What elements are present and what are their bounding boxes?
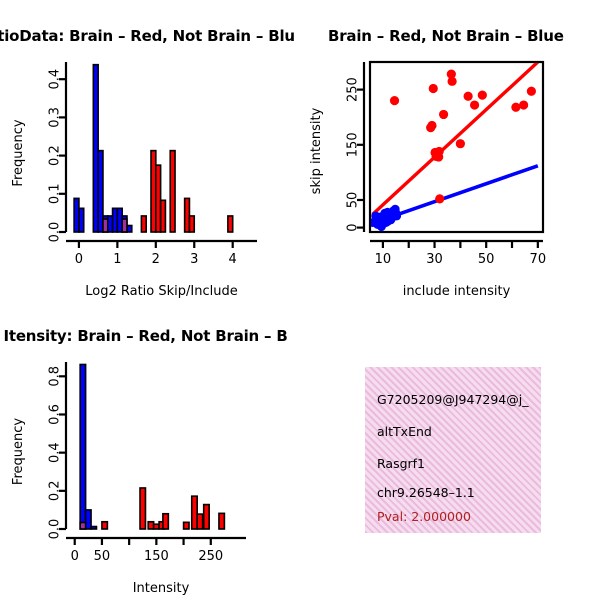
histogram-bar: [189, 216, 194, 232]
histogram-bar: [161, 200, 166, 232]
y-tick-label: 0.0: [48, 222, 63, 243]
y-tick-label: 0.4: [48, 69, 63, 90]
histogram-bar: [170, 151, 175, 232]
histogram-bar: [219, 513, 224, 529]
scatter-point-brain: [511, 103, 520, 112]
histogram-bar: [102, 522, 107, 529]
top-right-plot: 05015025010305070include intensityskip i…: [300, 0, 600, 310]
scatter-point-brain: [439, 110, 448, 119]
y-tick-label: 0.4: [48, 442, 63, 463]
info-line-id: G7205209@J947294@j_: [377, 392, 528, 407]
panel-intensity-histogram: ne Itensity: Brain – Red, Not Brain – B …: [0, 300, 300, 600]
y-tick-label: 0.1: [48, 183, 63, 204]
histogram-bar: [228, 216, 233, 232]
histogram-bar: [140, 488, 145, 529]
histogram-bar: [86, 510, 91, 529]
scatter-point-brain: [390, 96, 399, 105]
histogram-bar: [103, 219, 108, 232]
blue-regression-line: [373, 166, 538, 223]
scatter-point-brain: [519, 100, 528, 109]
histogram-bar: [80, 364, 85, 529]
histogram-bar: [192, 496, 197, 529]
scatter-point-brain: [435, 194, 444, 203]
scatter-point-brain: [470, 100, 479, 109]
y-axis-title: Frequency: [11, 119, 26, 186]
histogram-bar: [91, 527, 96, 529]
top-left-plot: 0.00.10.20.30.401234Log2 Ratio Skip/Incl…: [0, 0, 300, 310]
bottom-left-plot: 0.00.20.40.60.8050150250IntensityFrequen…: [0, 300, 300, 600]
info-line-eventtype: altTxEnd: [377, 424, 432, 439]
bottom-left-title: ne Itensity: Brain – Red, Not Brain – B: [0, 327, 288, 345]
scatter-point-brain: [426, 123, 435, 132]
x-axis-title: Intensity: [133, 581, 190, 596]
y-tick-label: 250: [346, 77, 361, 102]
scatter-point-brain: [429, 84, 438, 93]
scatter-point-brain: [456, 139, 465, 148]
histogram-bar: [79, 208, 84, 232]
info-line-gene: Rasgrf1: [377, 456, 425, 471]
panel-log2-ratio-histogram: RatioData: Brain – Red, Not Brain – Blu …: [0, 0, 300, 310]
red-regression-line: [373, 62, 538, 214]
scatter-point-brain: [527, 87, 536, 96]
x-tick-label: 70: [530, 252, 547, 267]
x-tick-label: 3: [190, 252, 198, 267]
y-tick-label: 0.0: [48, 519, 63, 540]
event-info-box: G7205209@J947294@j_ altTxEnd Rasgrf1 chr…: [365, 367, 541, 533]
x-tick-label: 1: [113, 252, 121, 267]
x-axis-title: include intensity: [403, 284, 511, 299]
x-tick-label: 4: [229, 252, 237, 267]
scatter-point-brain: [435, 147, 444, 156]
x-tick-label: 0: [75, 252, 83, 267]
x-tick-label: 2: [152, 252, 160, 267]
top-right-title: Brain – Red, Not Brain – Blue: [328, 27, 564, 45]
histogram-bar: [184, 522, 189, 529]
y-axis-title: Frequency: [11, 418, 26, 485]
scatter-point-brain: [464, 92, 473, 101]
figure-canvas: RatioData: Brain – Red, Not Brain – Blu …: [0, 0, 600, 600]
histogram-bar: [148, 522, 153, 529]
y-tick-label: 0.2: [48, 480, 63, 501]
x-tick-label: 50: [94, 549, 111, 564]
y-axis-title: skip intensity: [309, 107, 324, 194]
histogram-bar: [122, 219, 127, 232]
x-tick-label: 150: [144, 549, 169, 564]
panel-intensity-scatter: Brain – Red, Not Brain – Blue 0501502501…: [300, 0, 600, 310]
top-left-title: RatioData: Brain – Red, Not Brain – Blu: [0, 27, 295, 45]
y-tick-label: 50: [346, 192, 361, 209]
x-tick-label: 30: [426, 252, 443, 267]
x-tick-label: 10: [375, 252, 392, 267]
y-tick-label: 0: [346, 223, 361, 231]
histogram-bar: [80, 523, 85, 529]
scatter-point-brain: [478, 91, 487, 100]
x-axis-title: Log2 Ratio Skip/Include: [85, 284, 237, 299]
info-line-pval: Pval: 2.000000: [377, 509, 471, 524]
histogram-bar: [141, 216, 146, 232]
y-tick-label: 0.3: [48, 107, 63, 128]
histogram-bar: [163, 514, 168, 529]
histogram-bar: [154, 524, 159, 529]
x-tick-label: 250: [198, 549, 223, 564]
y-tick-label: 0.2: [48, 145, 63, 166]
scatter-point-brain: [448, 77, 457, 86]
plot-data-group: [368, 62, 537, 231]
histogram-bar: [197, 514, 202, 529]
histogram-bar: [204, 505, 209, 529]
x-tick-label: 50: [478, 252, 495, 267]
y-tick-label: 150: [346, 132, 361, 157]
y-tick-label: 0.8: [48, 366, 63, 387]
x-tick-label: 0: [71, 549, 79, 564]
info-line-locus: chr9.26548–1.1: [377, 485, 475, 500]
y-tick-label: 0.6: [48, 404, 63, 425]
panel-event-info: G7205209@J947294@j_ altTxEnd Rasgrf1 chr…: [300, 300, 600, 600]
